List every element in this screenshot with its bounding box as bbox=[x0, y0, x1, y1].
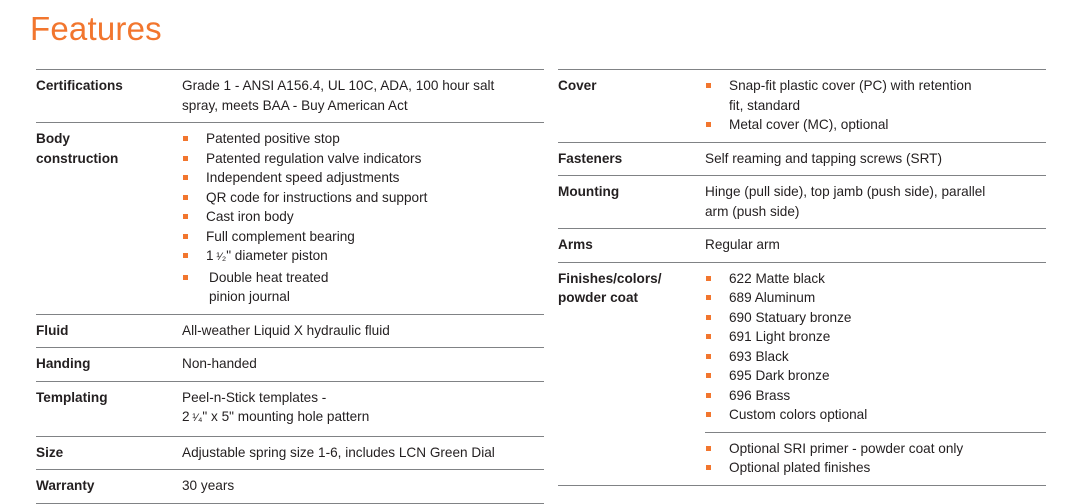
value-line: Grade 1 - ANSI A156.4, UL 10C, ADA, 100 … bbox=[182, 76, 544, 96]
list-item: Optional SRI primer - powder coat only bbox=[705, 439, 1046, 459]
row-value-optional-finishes: Optional SRI primer - powder coat only O… bbox=[705, 432, 1046, 485]
row-value-handing: Non-handed bbox=[182, 348, 544, 382]
list-item: Metal cover (MC), optional bbox=[705, 115, 1046, 135]
label-line: construction bbox=[36, 149, 182, 169]
table-row: Handing Non-handed bbox=[36, 348, 544, 382]
list-item: 691 Light bronze bbox=[705, 327, 1046, 347]
table-row: Mounting Hinge (pull side), top jamb (pu… bbox=[558, 176, 1046, 229]
table-row: Optional SRI primer - powder coat only O… bbox=[558, 432, 1046, 485]
row-label-templating: Templating bbox=[36, 381, 182, 436]
table-row: Finishes/colors/ powder coat 622 Matte b… bbox=[558, 262, 1046, 432]
bullet-list: Patented positive stop Patented regulati… bbox=[182, 129, 544, 307]
list-item: Custom colors optional bbox=[705, 405, 1046, 425]
table-row: Fluid All-weather Liquid X hydraulic flu… bbox=[36, 314, 544, 348]
row-value-cover: Snap-fit plastic cover (PC) with retenti… bbox=[705, 70, 1046, 143]
row-label-fasteners: Fasteners bbox=[558, 142, 705, 176]
row-label-optional-finishes bbox=[558, 432, 705, 485]
list-item: Snap-fit plastic cover (PC) with retenti… bbox=[705, 76, 1046, 115]
row-label-warranty: Warranty bbox=[36, 470, 182, 504]
list-item: Optional plated finishes bbox=[705, 458, 1046, 478]
table-row: Fasteners Self reaming and tapping screw… bbox=[558, 142, 1046, 176]
row-value-body-construction: Patented positive stop Patented regulati… bbox=[182, 123, 544, 315]
list-item: Full complement bearing bbox=[182, 227, 544, 247]
label-line: Body bbox=[36, 129, 182, 149]
list-item: 696 Brass bbox=[705, 386, 1046, 406]
value-line: 2 ¹⁄₄" x 5" mounting hole pattern bbox=[182, 407, 544, 429]
list-item: 689 Aluminum bbox=[705, 288, 1046, 308]
list-item: 693 Black bbox=[705, 347, 1046, 367]
table-row: Arms Regular arm bbox=[558, 229, 1046, 263]
row-label-size: Size bbox=[36, 436, 182, 470]
page-title: Features bbox=[30, 8, 162, 50]
list-item: Double heat treated pinion journal bbox=[182, 268, 544, 307]
bullet-list: 622 Matte black 689 Aluminum 690 Statuar… bbox=[705, 269, 1046, 425]
row-label-handing: Handing bbox=[36, 348, 182, 382]
row-value-fluid: All-weather Liquid X hydraulic fluid bbox=[182, 314, 544, 348]
table-row: Size Adjustable spring size 1-6, include… bbox=[36, 436, 544, 470]
bullet-list: Optional SRI primer - powder coat only O… bbox=[705, 439, 1046, 478]
row-value-certifications: Grade 1 - ANSI A156.4, UL 10C, ADA, 100 … bbox=[182, 70, 544, 123]
row-label-cover: Cover bbox=[558, 70, 705, 143]
value-line: Hinge (pull side), top jamb (push side),… bbox=[705, 182, 1046, 202]
row-value-fasteners: Self reaming and tapping screws (SRT) bbox=[705, 142, 1046, 176]
features-table-right: Cover Snap-fit plastic cover (PC) with r… bbox=[558, 69, 1046, 486]
row-label-arms: Arms bbox=[558, 229, 705, 263]
row-label-fluid: Fluid bbox=[36, 314, 182, 348]
list-item: 622 Matte black bbox=[705, 269, 1046, 289]
row-value-templating: Peel-n-Stick templates - 2 ¹⁄₄" x 5" mou… bbox=[182, 381, 544, 436]
row-value-size: Adjustable spring size 1-6, includes LCN… bbox=[182, 436, 544, 470]
list-item: Independent speed adjustments bbox=[182, 168, 544, 188]
list-item: 690 Statuary bronze bbox=[705, 308, 1046, 328]
row-value-warranty: 30 years bbox=[182, 470, 544, 504]
list-item: QR code for instructions and support bbox=[182, 188, 544, 208]
table-row: Cover Snap-fit plastic cover (PC) with r… bbox=[558, 70, 1046, 143]
value-line: Peel-n-Stick templates - bbox=[182, 388, 544, 408]
row-value-finishes: 622 Matte black 689 Aluminum 690 Statuar… bbox=[705, 262, 1046, 432]
row-label-body-construction: Body construction bbox=[36, 123, 182, 315]
row-label-finishes: Finishes/colors/ powder coat bbox=[558, 262, 705, 432]
row-value-arms: Regular arm bbox=[705, 229, 1046, 263]
list-item: Cast iron body bbox=[182, 207, 544, 227]
value-line: spray, meets BAA - Buy American Act bbox=[182, 96, 544, 116]
table-row: Certifications Grade 1 - ANSI A156.4, UL… bbox=[36, 70, 544, 123]
list-item: 1 ¹⁄₂" diameter piston bbox=[182, 246, 544, 268]
row-label-mounting: Mounting bbox=[558, 176, 705, 229]
list-item: Patented regulation valve indicators bbox=[182, 149, 544, 169]
bullet-list: Snap-fit plastic cover (PC) with retenti… bbox=[705, 76, 1046, 135]
table-row: Warranty 30 years bbox=[36, 470, 544, 504]
value-line: arm (push side) bbox=[705, 202, 1046, 222]
features-page: Features Certifications Grade 1 - ANSI A… bbox=[0, 0, 1081, 497]
list-item: 695 Dark bronze bbox=[705, 366, 1046, 386]
row-value-mounting: Hinge (pull side), top jamb (push side),… bbox=[705, 176, 1046, 229]
row-label-certifications: Certifications bbox=[36, 70, 182, 123]
table-row: Templating Peel-n-Stick templates - 2 ¹⁄… bbox=[36, 381, 544, 436]
list-item: Patented positive stop bbox=[182, 129, 544, 149]
label-line: powder coat bbox=[558, 288, 705, 308]
label-line: Finishes/colors/ bbox=[558, 269, 705, 289]
table-row: Body construction Patented positive stop… bbox=[36, 123, 544, 315]
features-table-left: Certifications Grade 1 - ANSI A156.4, UL… bbox=[36, 69, 544, 504]
